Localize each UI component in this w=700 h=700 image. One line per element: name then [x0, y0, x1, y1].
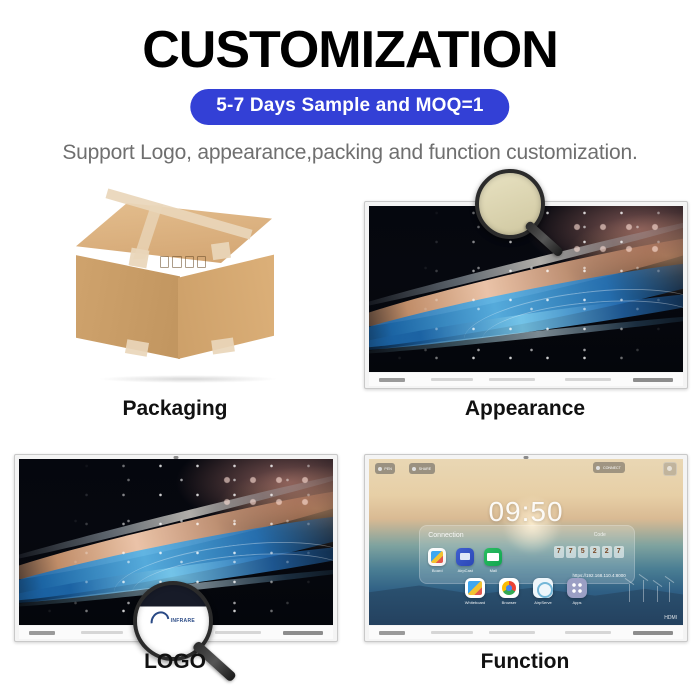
whiteboard-icon[interactable]: Whiteboard: [465, 578, 485, 598]
panel-caption-appearance: Appearance: [350, 397, 700, 421]
connection-code: 775227: [554, 546, 624, 558]
shipping-marks-icon: [160, 255, 206, 269]
magnifier-icon: INFRARE: [133, 581, 263, 691]
swoosh-icon: [147, 608, 173, 635]
panel-caption-logo: LOGO: [0, 650, 350, 674]
connection-card-title: Connection: [428, 532, 463, 539]
cast-icon[interactable]: AirpCast: [456, 548, 474, 566]
panel-logo: INFRARE LOGO: [0, 438, 350, 695]
whiteboard-icon[interactable]: Board: [428, 548, 446, 566]
airserver-icon[interactable]: AirpServe: [533, 578, 553, 598]
toolbar-share-button[interactable]: SHARE: [409, 463, 435, 474]
panel-appearance: Appearance: [350, 185, 700, 442]
wind-turbines: [623, 568, 677, 602]
launcher-home-screen: PEN SHARE CONNECT 09:50: [369, 459, 683, 625]
status-right: HDMI: [664, 615, 677, 621]
toolbar-connect-button[interactable]: CONNECT: [593, 462, 625, 473]
gear-icon[interactable]: [663, 462, 677, 476]
cardboard-box-icon: [52, 199, 298, 379]
connection-url: https://192.168.110.4:8000: [573, 573, 626, 578]
brand-logo: INFRARE: [151, 612, 195, 630]
panel-caption-function: Function: [350, 650, 700, 674]
customization-marketing-page: CUSTOMIZATION 5-7 Days Sample and MOQ=1 …: [0, 0, 700, 700]
lead-time-badge: 5-7 Days Sample and MOQ=1: [190, 89, 509, 125]
clock-widget: 09:50: [369, 496, 683, 528]
launcher-topbar: PEN SHARE CONNECT: [369, 459, 683, 475]
mail-icon[interactable]: Mail: [484, 548, 502, 566]
panel-function: PEN SHARE CONNECT 09:50: [350, 438, 700, 695]
page-subtitle: Support Logo, appearance,packing and fun…: [0, 141, 700, 165]
panel-packaging: Packaging: [0, 185, 350, 442]
smart-display-icon: PEN SHARE CONNECT 09:50: [364, 454, 688, 642]
chrome-icon[interactable]: Browser: [499, 578, 519, 598]
display-chin: [369, 626, 683, 639]
display-chin: [369, 373, 683, 386]
feature-grid: Packaging: [0, 185, 700, 700]
panel-caption-packaging: Packaging: [0, 397, 350, 421]
page-header: CUSTOMIZATION 5-7 Days Sample and MOQ=1 …: [0, 0, 700, 185]
apps-grid-icon[interactable]: Apps: [567, 578, 587, 598]
display-screen: PEN SHARE CONNECT 09:50: [369, 459, 683, 625]
connection-code-label: Code: [594, 532, 606, 538]
magnifier-icon: [475, 169, 595, 269]
toolbar-pen-button[interactable]: PEN: [375, 463, 395, 474]
connection-card: Connection Code Board AirpCast M: [419, 525, 635, 583]
card-app-list: Board AirpCast Mail: [428, 548, 502, 566]
brand-logo-text: INFRARE: [171, 618, 195, 624]
page-title: CUSTOMIZATION: [0, 24, 700, 76]
